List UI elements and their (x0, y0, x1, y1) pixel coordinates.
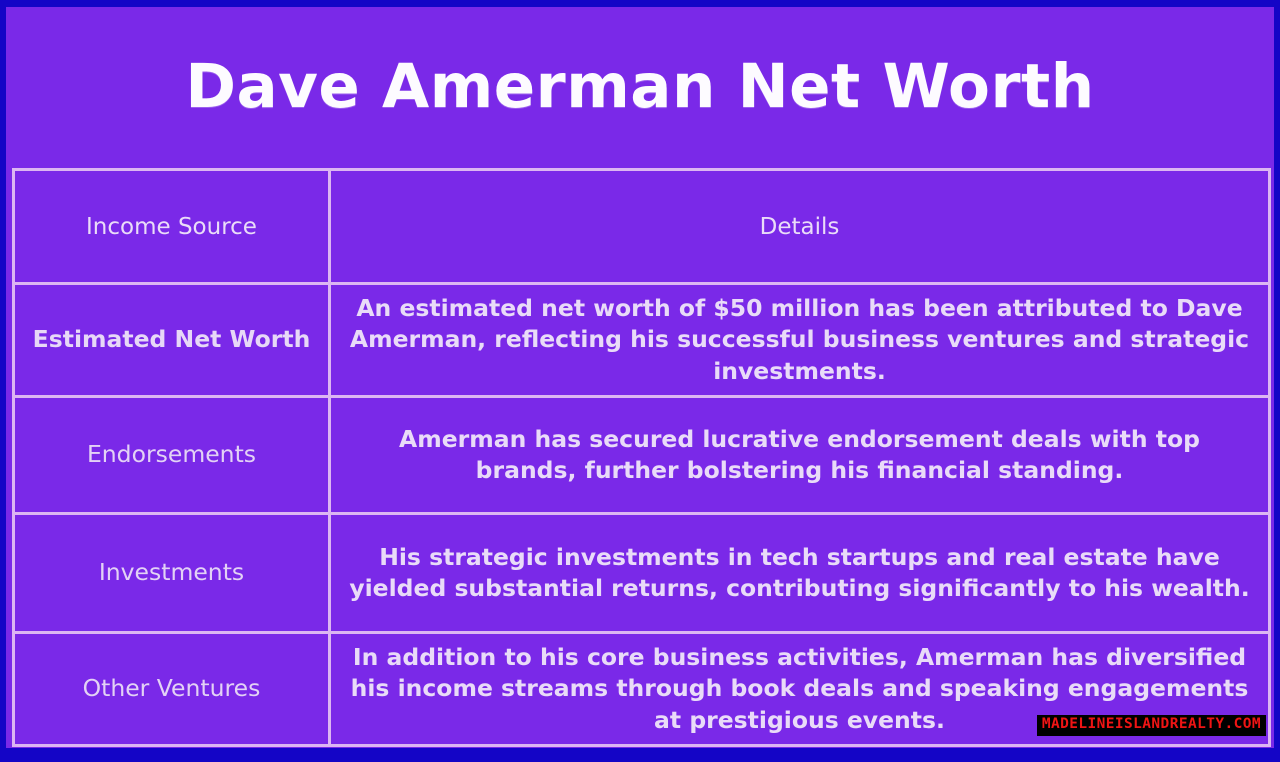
poster-frame: Dave Amerman Net Worth Income Source Det… (0, 0, 1280, 762)
table-row: Estimated Net Worth An estimated net wor… (14, 284, 1270, 397)
row-label-other-ventures: Other Ventures (14, 633, 330, 746)
row-label-estimated-net-worth: Estimated Net Worth (14, 284, 330, 397)
net-worth-table: Income Source Details Estimated Net Wort… (12, 168, 1271, 747)
row-details-investments: His strategic investments in tech startu… (330, 514, 1270, 633)
table-row: Investments His strategic investments in… (14, 514, 1270, 633)
watermark-badge: MADELINEISLANDREALTY.COM (1037, 715, 1266, 736)
row-label-endorsements: Endorsements (14, 397, 330, 514)
title-bar: Dave Amerman Net Worth (6, 7, 1274, 168)
page-title: Dave Amerman Net Worth (185, 55, 1094, 119)
row-details-estimated-net-worth: An estimated net worth of $50 million ha… (330, 284, 1270, 397)
table-row: Endorsements Amerman has secured lucrati… (14, 397, 1270, 514)
column-header-details: Details (330, 170, 1270, 284)
row-details-endorsements: Amerman has secured lucrative endorsemen… (330, 397, 1270, 514)
poster-canvas: Dave Amerman Net Worth Income Source Det… (6, 7, 1274, 748)
row-label-investments: Investments (14, 514, 330, 633)
table-header: Income Source Details (14, 170, 1270, 284)
table-body: Estimated Net Worth An estimated net wor… (14, 284, 1270, 746)
table-header-row: Income Source Details (14, 170, 1270, 284)
column-header-income-source: Income Source (14, 170, 330, 284)
